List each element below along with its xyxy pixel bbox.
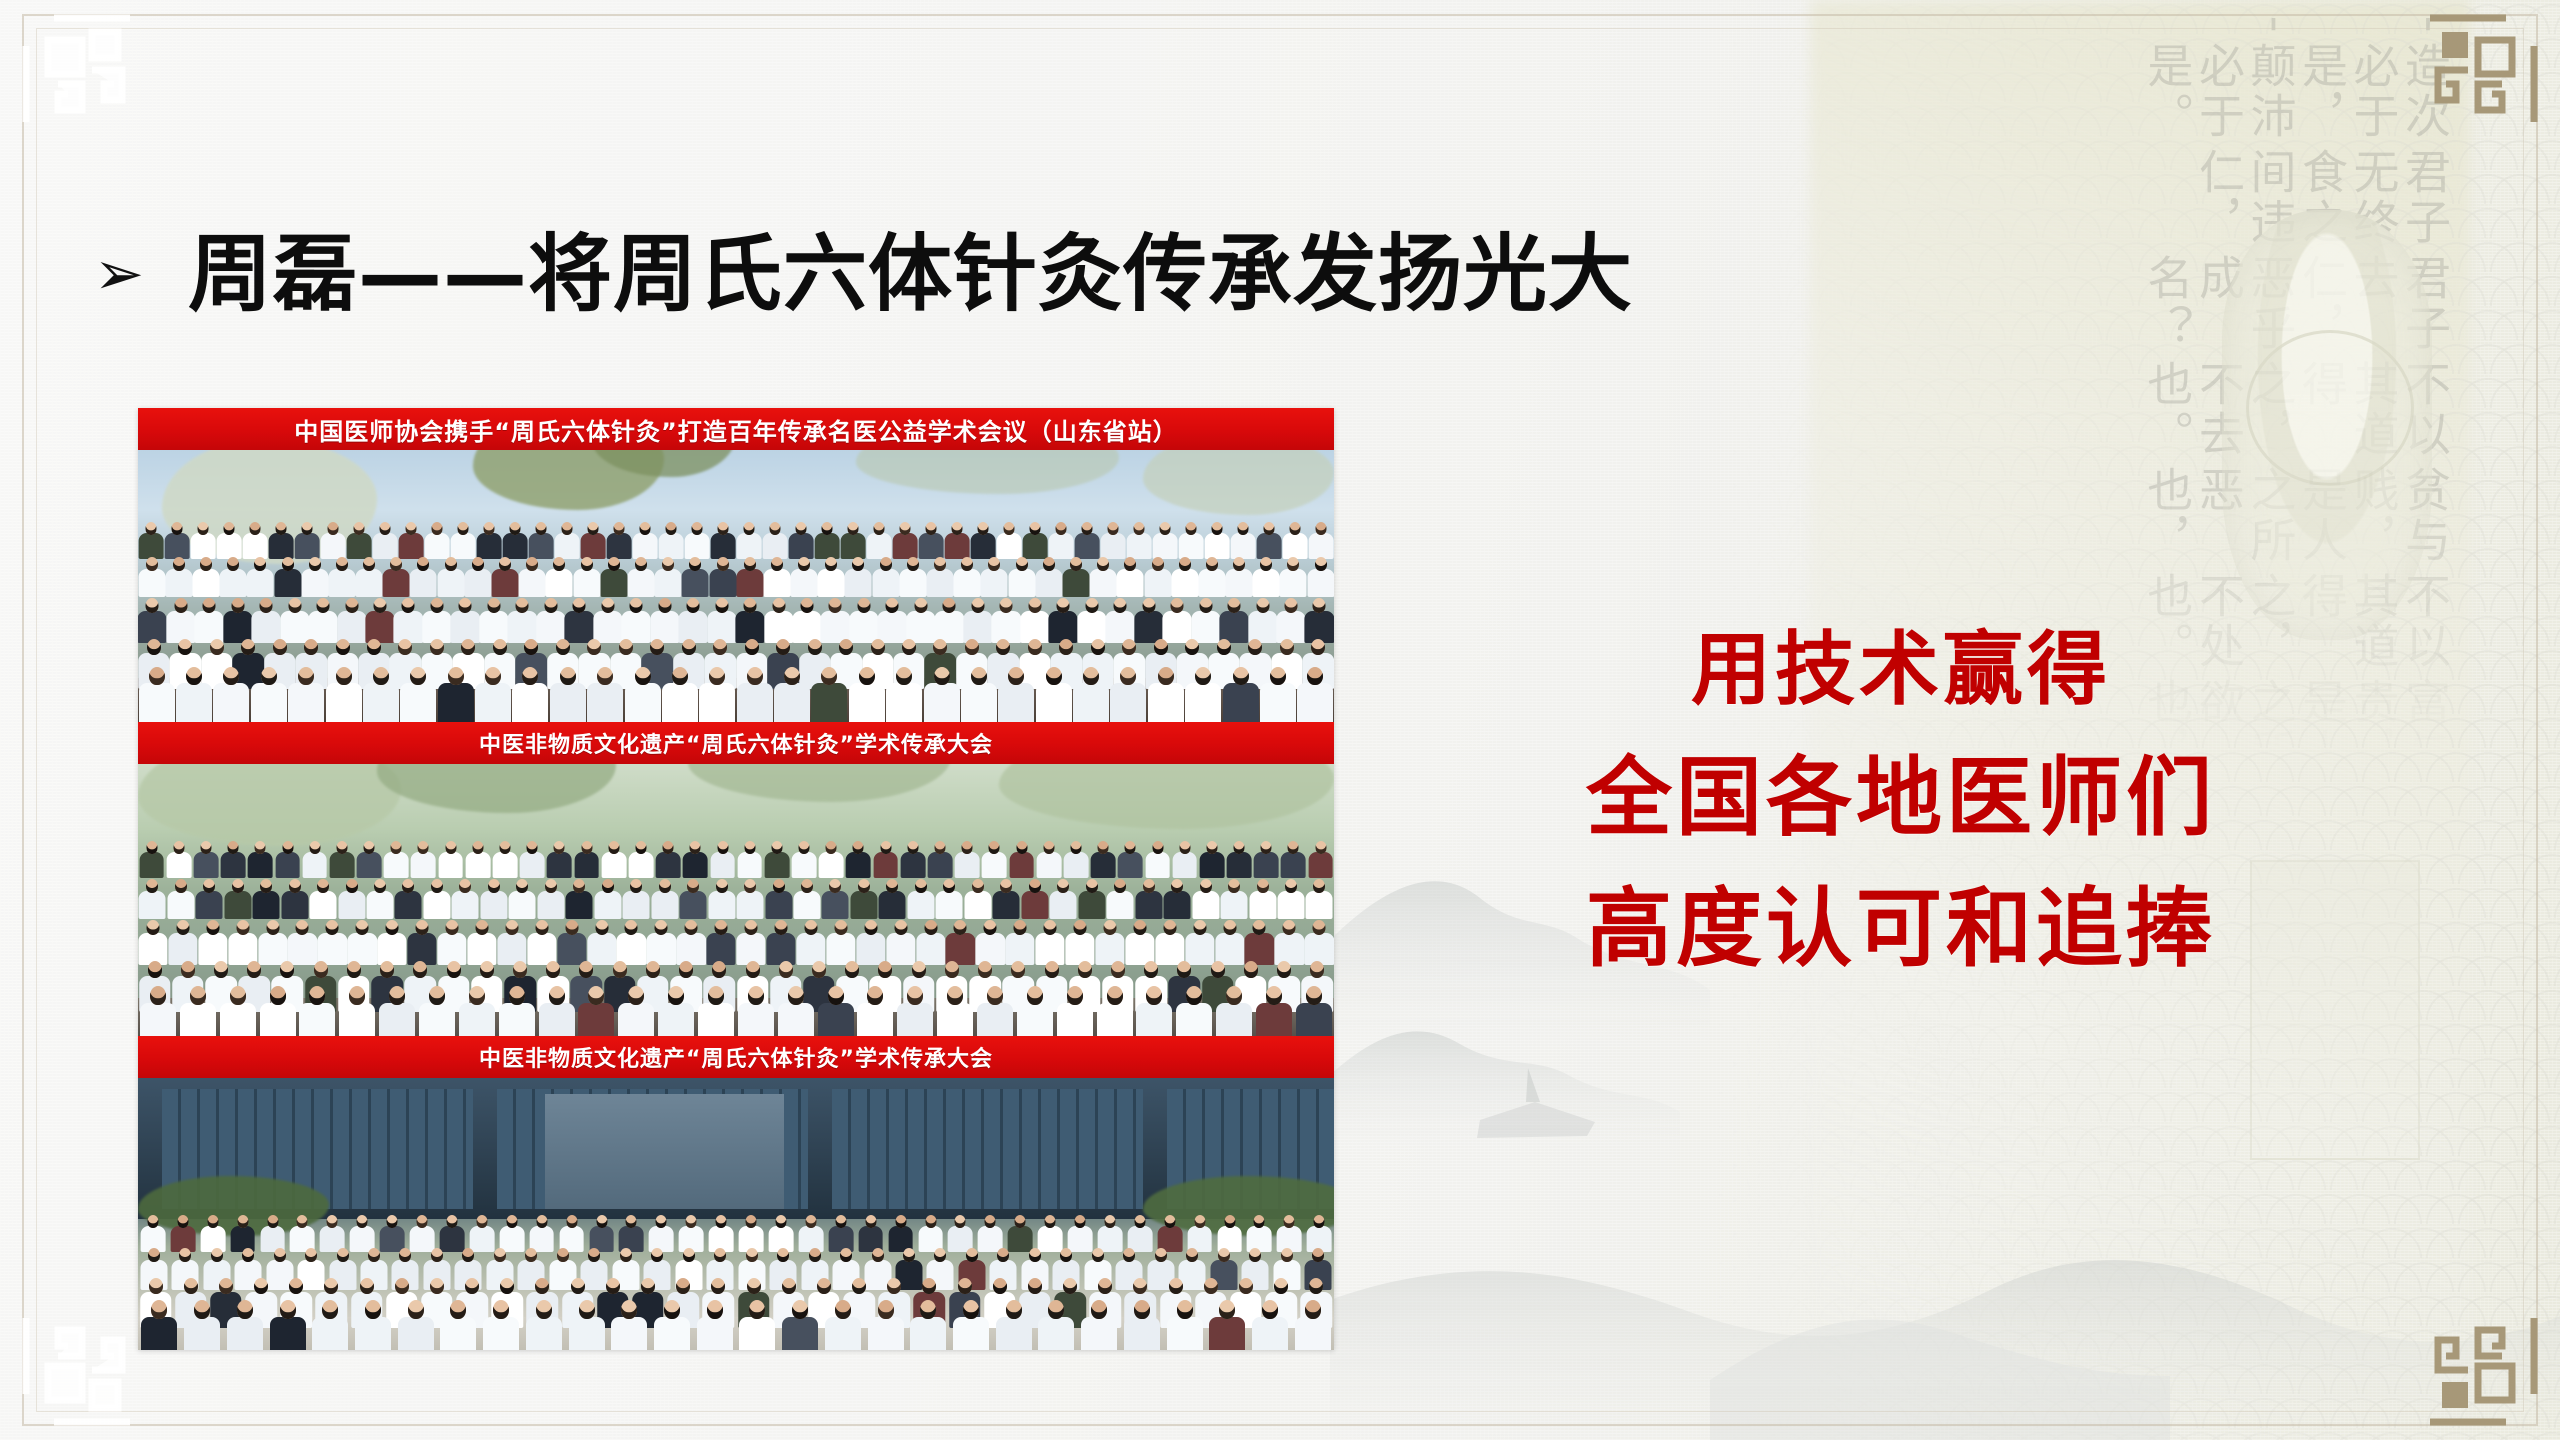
- corner-ornament-bottom-left-icon: [18, 1314, 134, 1430]
- slogan-line-2: 全国各地医师们: [1586, 753, 2216, 844]
- group-photo-1: [138, 450, 1334, 722]
- arrow-bullet-icon: ➢: [96, 245, 142, 303]
- photo-banner-caption: 中医非物质文化遗产“周氏六体针灸”学术传承大会: [138, 722, 1334, 764]
- slide-title: ➢ 周磊——将周氏六体针灸传承发扬光大: [96, 232, 1633, 316]
- slogan-block: 用技术赢得 全国各地医师们 高度认可和追捧: [1396, 628, 2406, 975]
- group-photo-3: [138, 1078, 1334, 1350]
- slogan-line-1: 用技术赢得: [1691, 628, 2111, 713]
- corner-ornament-top-left-icon: [18, 10, 134, 126]
- photo-banner-caption: 中国医师协会携手“周氏六体针灸”打造百年传承名医公益学术会议（山东省站）: [138, 408, 1334, 450]
- jade-seal-ornament: [2222, 210, 2432, 640]
- page-title: 周磊——将周氏六体针灸传承发扬光大: [188, 232, 1633, 316]
- slogan-line-3: 高度认可和追捧: [1586, 884, 2216, 975]
- group-photo-2: [138, 764, 1334, 1036]
- photo-banner-caption: 中医非物质文化遗产“周氏六体针灸”学术传承大会: [138, 1036, 1334, 1078]
- group-photo-collage[interactable]: 中国医师协会携手“周氏六体针灸”打造百年传承名医公益学术会议（山东省站） 中医非…: [138, 408, 1334, 1350]
- slide-canvas: 富与贵，是人之所欲也， 不以其道得之，不处也。 贫与贱，是人之所恶也， 不以其道…: [0, 0, 2560, 1440]
